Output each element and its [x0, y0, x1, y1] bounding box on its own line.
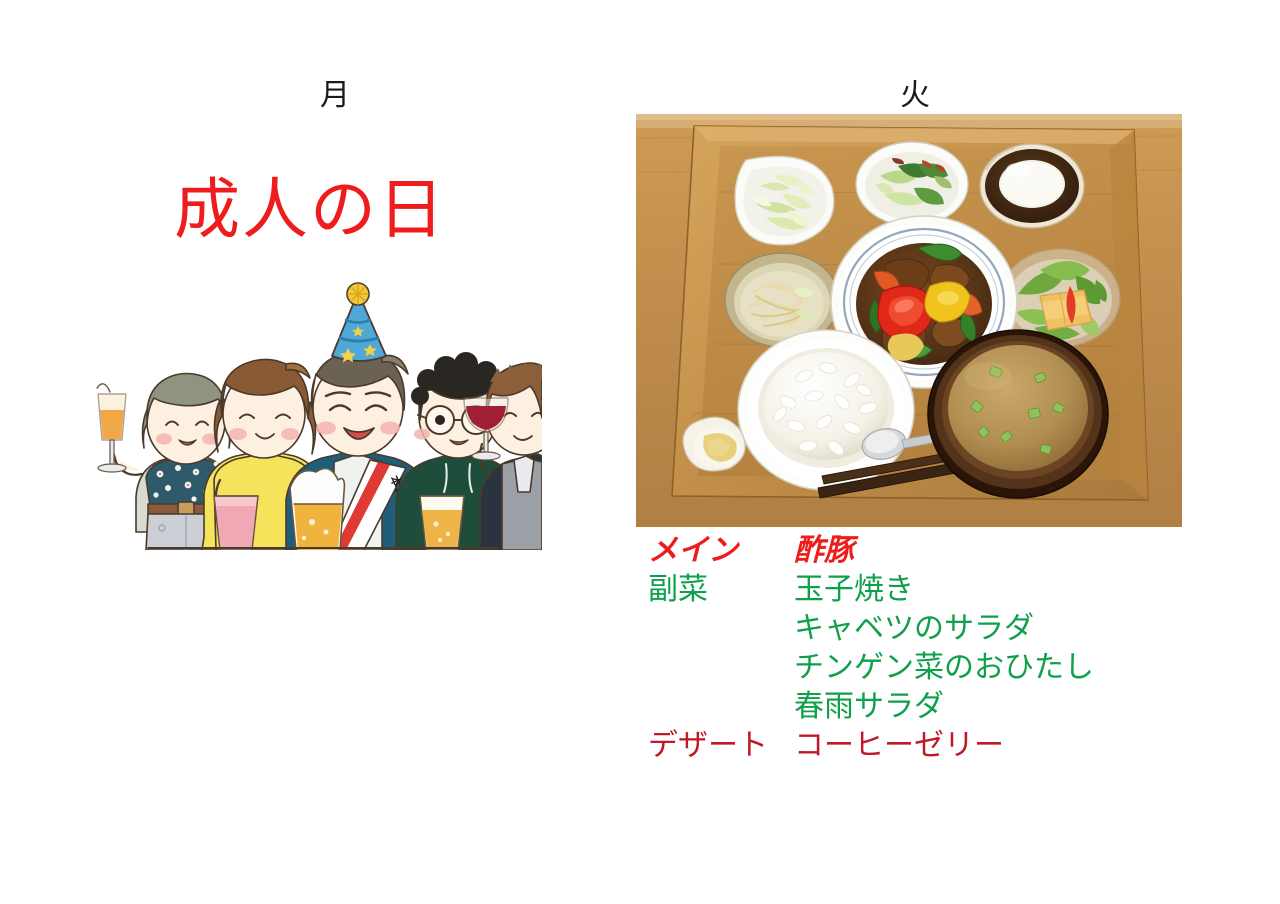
menu-value-side-4: 春雨サラダ — [794, 692, 944, 722]
coming-of-age-celebration-illustration: 本日の主役 — [90, 282, 542, 550]
day-header-tuesday: 火 — [875, 81, 955, 111]
menu-label-dessert: デザート — [648, 731, 794, 761]
menu-value-dessert: コーヒーゼリー — [794, 731, 1004, 761]
menu-row-side-3: チンゲン菜のおひたし — [648, 653, 1168, 692]
menu-label-side: 副菜 — [648, 575, 794, 605]
menu-list: メイン 酢豚 副菜 玉子焼き キャベツのサラダ チンゲン菜のおひたし 春雨サラダ… — [648, 536, 1168, 770]
menu-row-main: メイン 酢豚 — [648, 536, 1168, 575]
menu-value-side-3: チンゲン菜のおひたし — [794, 653, 1094, 683]
menu-row-side-1: 副菜 玉子焼き — [648, 575, 1168, 614]
menu-value-main: 酢豚 — [794, 536, 854, 566]
menu-label-main: メイン — [648, 536, 794, 566]
menu-value-side-2: キャベツのサラダ — [794, 614, 1034, 644]
menu-row-dessert: デザート コーヒーゼリー — [648, 731, 1168, 770]
meal-tray-photo — [636, 114, 1182, 527]
menu-row-side-4: 春雨サラダ — [648, 692, 1168, 731]
day-header-monday: 月 — [295, 81, 375, 111]
holiday-title: 成人の日 — [0, 176, 620, 242]
menu-value-side-1: 玉子焼き — [794, 575, 914, 605]
menu-row-side-2: キャベツのサラダ — [648, 614, 1168, 653]
